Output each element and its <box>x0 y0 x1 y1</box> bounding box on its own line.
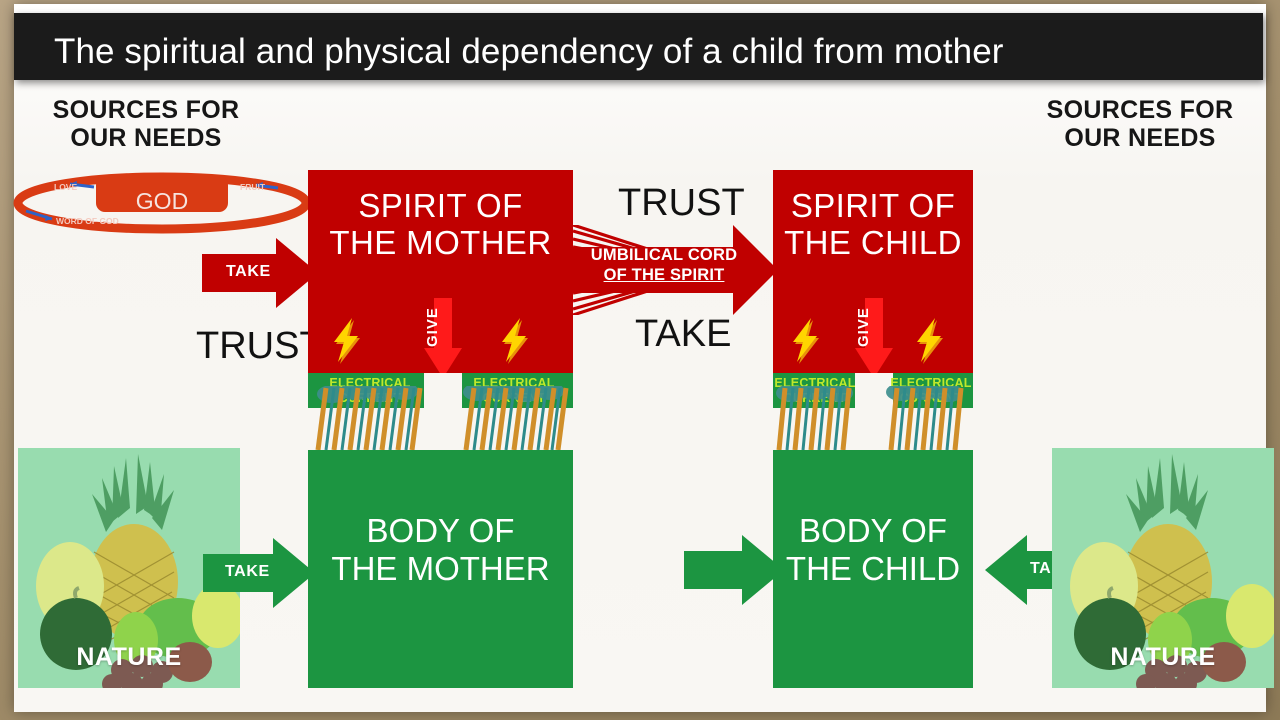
body-mother-line1: BODY OF <box>308 512 573 550</box>
nature-label-left: NATURE <box>18 643 240 672</box>
lightning-bolt-icon <box>789 318 823 366</box>
lightning-bolt-icon <box>330 318 364 366</box>
take-arrow-mother-body: TAKE <box>203 538 315 608</box>
god-source-graphic: GOD LOVE FRUIT WORD OF GOD <box>12 170 312 236</box>
god-word-label: WORD OF GOD <box>56 216 119 226</box>
give-arrow-mother-label: GIVE <box>424 298 462 356</box>
trust-word-cord: TRUST <box>618 182 745 225</box>
umbilical-cord-label: UMBILICAL CORD OF THE SPIRIT <box>578 245 750 285</box>
spirit-mother-line2: THE MOTHER <box>308 224 573 261</box>
umbilical-cord-line1: UMBILICAL CORD <box>578 245 750 265</box>
spirit-of-the-mother-box: SPIRIT OF THE MOTHER GIVE <box>308 170 573 375</box>
take-word-cord: TAKE <box>635 313 731 356</box>
body-of-the-child-label: BODY OF THE CHILD <box>773 512 973 588</box>
take-arrow-mother-body-label: TAKE <box>225 563 270 581</box>
body-of-the-mother-label: BODY OF THE MOTHER <box>308 512 573 588</box>
title-bar: The spiritual and physical dependency of… <box>14 13 1263 80</box>
sources-header-left-line1: SOURCES FOR <box>36 96 256 124</box>
spirit-of-the-child-label: SPIRIT OF THE CHILD <box>773 187 973 262</box>
body-child-line1: BODY OF <box>773 512 973 550</box>
give-arrow-child-label: GIVE <box>855 298 893 356</box>
lightning-bolt-icon <box>913 318 947 366</box>
god-fruit-label: FRUIT <box>240 182 266 192</box>
spirit-mother-line1: SPIRIT OF <box>308 187 573 224</box>
body-mother-line2: THE MOTHER <box>308 550 573 588</box>
give-arrow-mother: GIVE <box>424 298 462 378</box>
god-label: GOD <box>136 188 188 214</box>
slide-frame: The spiritual and physical dependency of… <box>0 0 1280 720</box>
nature-image-right: NATURE <box>1052 448 1274 688</box>
sources-header-right-line2: OUR NEEDS <box>1030 124 1250 152</box>
spirit-child-line1: SPIRIT OF <box>773 187 973 224</box>
body-of-the-mother-box: BODY OF THE MOTHER <box>308 450 573 688</box>
god-love-label: LOVE <box>54 182 77 192</box>
sources-header-left-line2: OUR NEEDS <box>36 124 256 152</box>
take-arrow-mother-spirit-label: TAKE <box>226 263 271 281</box>
trust-word-left: TRUST <box>196 325 323 368</box>
spirit-of-the-child-box: SPIRIT OF THE CHILD GIVE <box>773 170 973 375</box>
take-arrow-mother-spirit: TAKE <box>202 238 318 308</box>
give-arrow-child: GIVE <box>855 298 893 378</box>
sources-header-left: SOURCES FOR OUR NEEDS <box>36 96 256 152</box>
nature-label-right: NATURE <box>1052 643 1274 672</box>
body-of-the-child-box: BODY OF THE CHILD <box>773 450 973 688</box>
umbilical-cord-line2: OF THE SPIRIT <box>578 265 750 285</box>
arrow-mother-body-to-child-body <box>684 535 784 605</box>
nerve-wires-mother <box>308 386 573 452</box>
spirit-child-line2: THE CHILD <box>773 224 973 261</box>
sources-header-right-line1: SOURCES FOR <box>1030 96 1250 124</box>
nerve-wires-child <box>773 386 973 452</box>
spirit-of-the-mother-label: SPIRIT OF THE MOTHER <box>308 187 573 262</box>
lightning-bolt-icon <box>498 318 532 366</box>
body-child-line2: THE CHILD <box>773 550 973 588</box>
slide-title: The spiritual and physical dependency of… <box>54 32 1004 72</box>
sources-header-right: SOURCES FOR OUR NEEDS <box>1030 96 1250 152</box>
